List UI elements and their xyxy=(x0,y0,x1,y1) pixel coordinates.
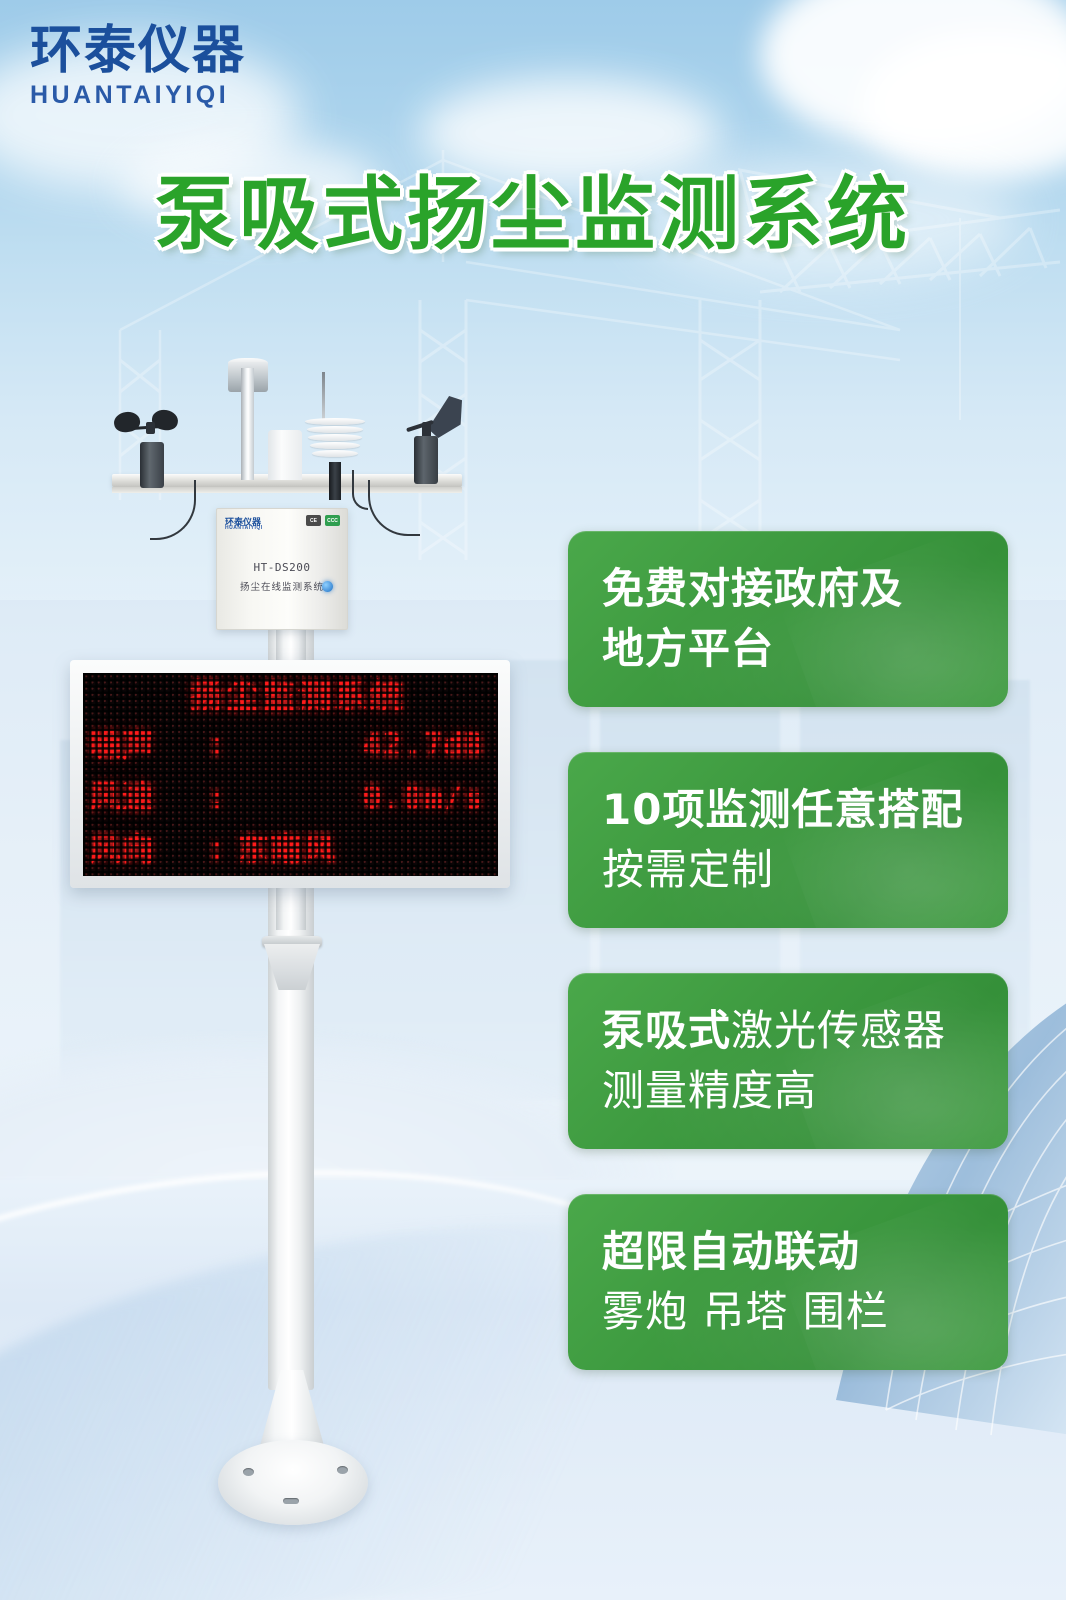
antenna-rod xyxy=(322,372,325,422)
led-row-windspeed: 风速 : 0.0m/s xyxy=(89,771,492,823)
led-title: 扬尘监测系统 xyxy=(89,675,492,719)
feature-card-auto-linkage[interactable]: 超限自动联动 雾炮 吊塔 围栏 xyxy=(568,1194,1008,1370)
sampling-inlet-tube xyxy=(241,368,254,480)
ce-certification-icon: CE xyxy=(306,515,321,526)
feature-card-line-1: 免费对接政府及 xyxy=(602,559,1008,619)
feature-card-list: 免费对接政府及 地方平台 10项监测任意搭配 按需定制 泵吸式激光传感器 测量精… xyxy=(568,531,1008,1415)
base-bolt-hole xyxy=(337,1466,348,1474)
wind-direction-vane xyxy=(398,396,478,480)
feature-card-line-2: 按需定制 xyxy=(602,840,1008,900)
led-value-noise: 42.7dB xyxy=(233,719,492,771)
led-colon: : xyxy=(199,823,233,875)
wind-speed-anemometer xyxy=(118,400,188,480)
cabinet-logo-en: HUANTAIYIQI xyxy=(225,525,263,531)
base-bolt-hole xyxy=(243,1468,254,1476)
cabinet-model-number: HT-DS200 xyxy=(217,561,347,574)
led-row-noise: 噪声 : 42.7dB xyxy=(89,719,492,771)
feature-card-line-2: 地方平台 xyxy=(602,619,1008,679)
feature-card-line-1: 超限自动联动 xyxy=(602,1222,1008,1282)
sensor-cable xyxy=(352,470,368,510)
feature-card-line-1: 泵吸式激光传感器 xyxy=(602,1001,1008,1061)
led-value-windspeed: 0.0m/s xyxy=(233,771,492,823)
led-label-windspeed: 风速 xyxy=(89,771,199,823)
led-label-winddirection: 风向 xyxy=(89,823,199,875)
feature-card-line-2: 测量精度高 xyxy=(602,1061,1008,1121)
feature-card-line-1: 10项监测任意搭配 xyxy=(602,780,1008,840)
sensor-cable xyxy=(150,480,196,540)
pole-base-plate xyxy=(218,1440,368,1525)
feature-card-government-platform[interactable]: 免费对接政府及 地方平台 xyxy=(568,531,1008,707)
led-label-noise: 噪声 xyxy=(89,719,199,771)
feature-card-line-1-emphasis: 泵吸式 xyxy=(602,1006,731,1055)
feature-card-ten-parameters[interactable]: 10项监测任意搭配 按需定制 xyxy=(568,752,1008,928)
radiation-shield-sensor xyxy=(305,418,365,466)
led-display-board: 扬尘监测系统 噪声 : 42.7dB 风速 : 0.0m/s 风向 : xyxy=(70,660,510,888)
power-indicator-icon xyxy=(322,581,333,592)
led-text-content: 扬尘监测系统 噪声 : 42.7dB 风速 : 0.0m/s 风向 : xyxy=(83,673,498,876)
sensor-cable xyxy=(368,480,420,536)
ccc-certification-icon: CCC xyxy=(325,515,340,526)
control-cabinet: 环泰仪器 HUANTAIYIQI CE CCC HT-DS200 扬尘在线监测系… xyxy=(216,508,348,630)
led-panel: 扬尘监测系统 噪声 : 42.7dB 风速 : 0.0m/s 风向 : xyxy=(83,673,498,876)
led-colon: : xyxy=(199,771,233,823)
led-colon: : xyxy=(199,719,233,771)
certification-badges: CE CCC xyxy=(306,515,340,526)
feature-card-line-2: 雾炮 吊塔 围栏 xyxy=(602,1282,1008,1342)
base-bolt-hole xyxy=(283,1498,299,1504)
feature-card-laser-sensor[interactable]: 泵吸式激光传感器 测量精度高 xyxy=(568,973,1008,1149)
dust-monitoring-station-illustration: 环泰仪器 HUANTAIYIQI CE CCC HT-DS200 扬尘在线监测系… xyxy=(0,0,560,1600)
feature-card-line-1-rest: 激光传感器 xyxy=(731,1006,946,1055)
led-row-winddirection: 风向 : 东南风 xyxy=(89,823,492,875)
led-value-winddirection: 东南风 xyxy=(233,823,492,875)
poster-canvas: 环泰仪器 HUANTAIYIQI 泵吸式扬尘监测系统 xyxy=(0,0,1066,1600)
white-cylinder-housing xyxy=(268,430,302,480)
